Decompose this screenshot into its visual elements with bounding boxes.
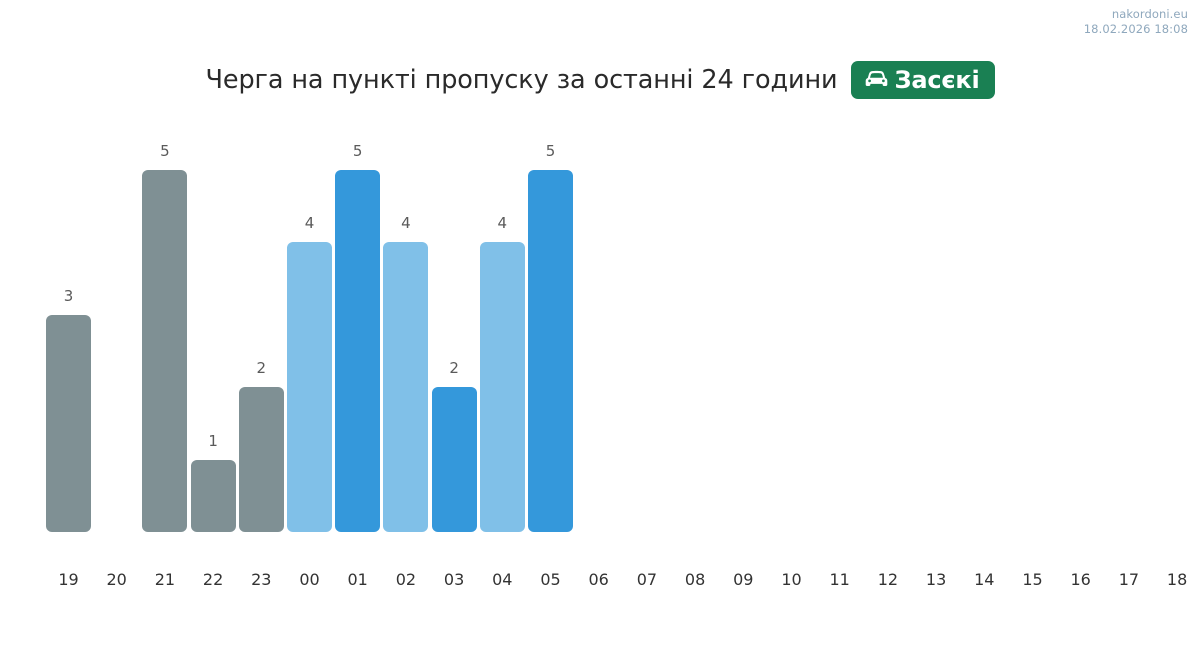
bar[interactable]: [383, 242, 428, 532]
bar-slot: 14: [962, 0, 1010, 651]
x-axis-tick-label: 07: [624, 572, 669, 588]
x-axis-tick-label: 01: [335, 572, 380, 588]
bar-value-label: 2: [432, 361, 477, 376]
x-axis-tick-label: 03: [432, 572, 477, 588]
bar-value-label: 5: [142, 144, 187, 159]
bar-slot: 521: [142, 0, 190, 651]
bar-value-label: 4: [383, 216, 428, 231]
x-axis-tick-label: 23: [239, 572, 284, 588]
bar-value-label: 4: [480, 216, 525, 231]
bar-value-label: 1: [191, 434, 236, 449]
x-axis-tick-label: 14: [962, 572, 1007, 588]
bar-value-label: 4: [287, 216, 332, 231]
bar-slot: 505: [528, 0, 576, 651]
bar[interactable]: [480, 242, 525, 532]
x-axis-tick-label: 16: [1058, 572, 1103, 588]
bar-slot: 400: [287, 0, 335, 651]
x-axis-tick-label: 02: [383, 572, 428, 588]
bar-slot: 07: [624, 0, 672, 651]
bar[interactable]: [191, 460, 236, 532]
bar-slot: 18: [1155, 0, 1200, 651]
bar-value-label: 5: [335, 144, 380, 159]
x-axis-tick-label: 20: [94, 572, 139, 588]
bar-value-label: 5: [528, 144, 573, 159]
bar[interactable]: [239, 387, 284, 532]
x-axis-tick-label: 21: [142, 572, 187, 588]
bar[interactable]: [335, 170, 380, 532]
queue-bar-chart: 3192052112222340050140220340450506070809…: [0, 0, 1200, 651]
plot-area: 3192052112222340050140220340450506070809…: [46, 0, 1200, 651]
x-axis-tick-label: 08: [673, 572, 718, 588]
bar-value-label: 3: [46, 289, 91, 304]
bar-slot: 16: [1058, 0, 1106, 651]
bar-slot: 11: [817, 0, 865, 651]
x-axis-tick-label: 09: [721, 572, 766, 588]
bar-slot: 404: [480, 0, 528, 651]
bar-slot: 13: [914, 0, 962, 651]
x-axis-tick-label: 11: [817, 572, 862, 588]
x-axis-tick-label: 06: [576, 572, 621, 588]
bar-slot: 122: [191, 0, 239, 651]
x-axis-tick-label: 10: [769, 572, 814, 588]
x-axis-tick-label: 18: [1155, 572, 1200, 588]
x-axis-tick-label: 00: [287, 572, 332, 588]
bar-value-label: 2: [239, 361, 284, 376]
x-axis-tick-label: 04: [480, 572, 525, 588]
bar-slot: 402: [383, 0, 431, 651]
x-axis-tick-label: 15: [1010, 572, 1055, 588]
bar-slot: 20: [94, 0, 142, 651]
x-axis-tick-label: 12: [865, 572, 910, 588]
bar-slot: 09: [721, 0, 769, 651]
bar-slot: 12: [865, 0, 913, 651]
x-axis-tick-label: 22: [191, 572, 236, 588]
bar[interactable]: [46, 315, 91, 532]
bar-slot: 203: [432, 0, 480, 651]
bar-slot: 501: [335, 0, 383, 651]
bar-slot: 17: [1106, 0, 1154, 651]
x-axis-tick-label: 19: [46, 572, 91, 588]
bar-slot: 223: [239, 0, 287, 651]
bar[interactable]: [142, 170, 187, 532]
bar[interactable]: [432, 387, 477, 532]
bar-slot: 15: [1010, 0, 1058, 651]
bar-slot: 06: [576, 0, 624, 651]
bar-slot: 319: [46, 0, 94, 651]
bar[interactable]: [528, 170, 573, 532]
bar-slot: 10: [769, 0, 817, 651]
bar-slot: 08: [673, 0, 721, 651]
x-axis-tick-label: 17: [1106, 572, 1151, 588]
x-axis-tick-label: 05: [528, 572, 573, 588]
x-axis-tick-label: 13: [914, 572, 959, 588]
bar[interactable]: [287, 242, 332, 532]
